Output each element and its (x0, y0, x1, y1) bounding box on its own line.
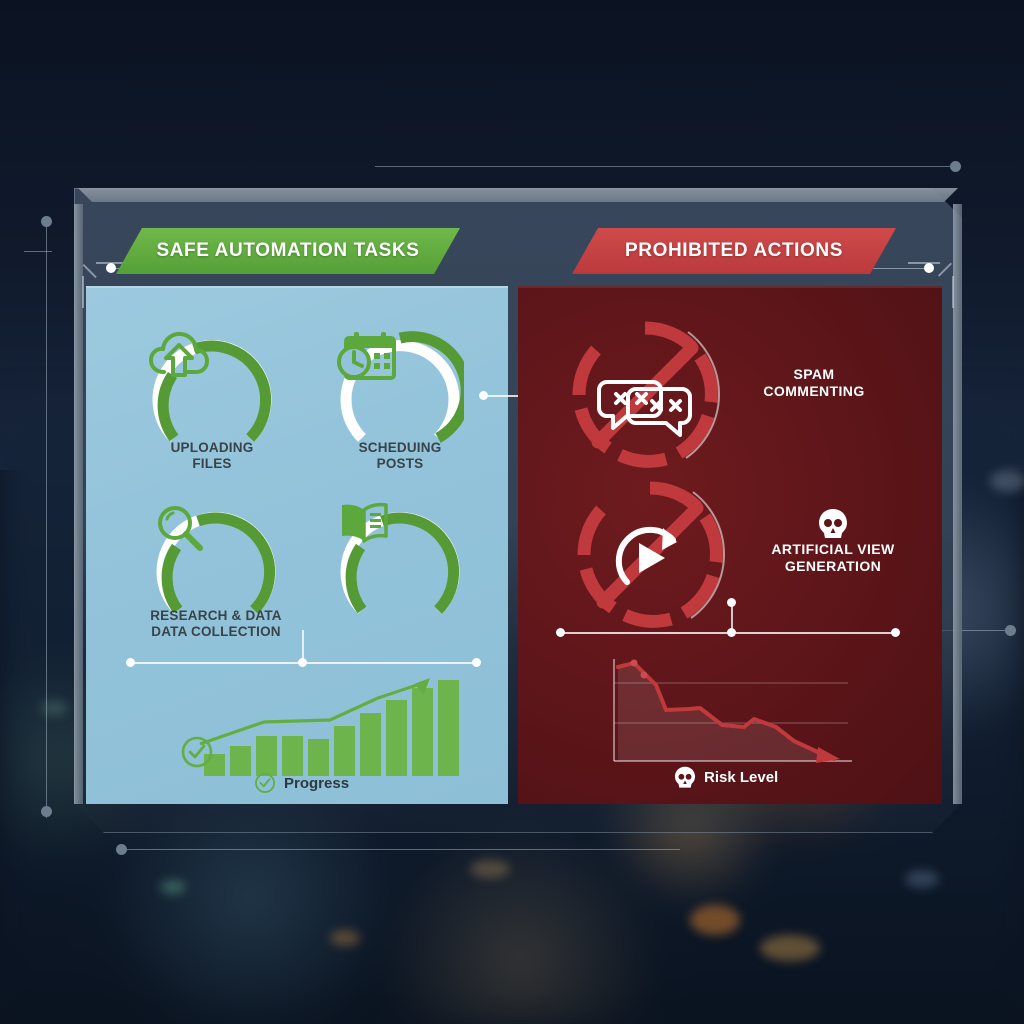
gauge-label-research-data: RESEARCH & DATA DATA COLLECTION (116, 608, 316, 640)
risk-label-spam-commenting: SPAM COMMENTING (714, 366, 914, 400)
risk-caption: Risk Level (674, 766, 778, 789)
hud-line-bottom-rail (120, 849, 680, 850)
console-node-left-feeder (106, 263, 116, 273)
gauge-uploading-files[interactable] (148, 328, 276, 456)
calendar-clock-icon (336, 328, 464, 456)
check-circle-icon-chart (180, 735, 214, 769)
safe-rail-stem (302, 630, 304, 662)
risk-rail-stem-dot (727, 598, 736, 607)
gauge-reading[interactable] (336, 500, 464, 628)
risk-caption-label: Risk Level (704, 769, 778, 786)
risk-rail-dot-left (556, 628, 565, 637)
hud-node-top-right (950, 161, 961, 172)
connector-dot-left (479, 391, 488, 400)
hud-node-bottom-left (41, 806, 52, 817)
cloud-upload-icon (148, 328, 276, 456)
console-top-bar (78, 188, 958, 202)
banner-safe-automation: SAFE AUTOMATION TASKS (116, 228, 460, 274)
progress-caption: Progress (254, 772, 349, 794)
hud-node-bottom-rail (116, 844, 127, 855)
hud-line-top-rail (375, 166, 955, 167)
progress-bar-chart (178, 668, 478, 778)
skull-icon-badge (818, 508, 848, 540)
prohibited-artificial-views[interactable] (565, 470, 735, 640)
skull-icon (674, 766, 696, 789)
prohibited-spam-commenting[interactable] (560, 310, 730, 480)
safe-rail-dot-right (472, 658, 481, 667)
banner-prohibited-actions: PROHIBITED ACTIONS (572, 228, 896, 274)
progress-caption-label: Progress (284, 775, 349, 792)
hud-node-top-left (41, 216, 52, 227)
no-autoplay-loop-icon (565, 470, 735, 640)
open-book-icon (336, 500, 464, 628)
no-spam-chat-icon (560, 310, 730, 480)
hud-line-top-left-vertical (46, 222, 47, 818)
safe-rail-dot-left (126, 658, 135, 667)
hud-node-right (1005, 625, 1016, 636)
check-circle-icon (254, 772, 276, 794)
gauge-label-uploading-files: UPLOADING FILES (112, 440, 312, 472)
banner-safe-label: SAFE AUTOMATION TASKS (156, 240, 419, 262)
risk-rail-dot-right (891, 628, 900, 637)
hud-line-left-tick (24, 251, 52, 252)
risk-label-artificial-views: ARTIFICIAL VIEW GENERATION (733, 541, 933, 575)
banner-prohibited-label: PROHIBITED ACTIONS (625, 240, 843, 262)
console-right-bar (953, 204, 962, 804)
gauge-label-scheduling-posts: SCHEDUING POSTS (300, 440, 500, 472)
gauge-scheduling-posts[interactable] (336, 328, 464, 456)
risk-level-line-chart (610, 655, 856, 775)
console-node-right-feeder (924, 263, 934, 273)
